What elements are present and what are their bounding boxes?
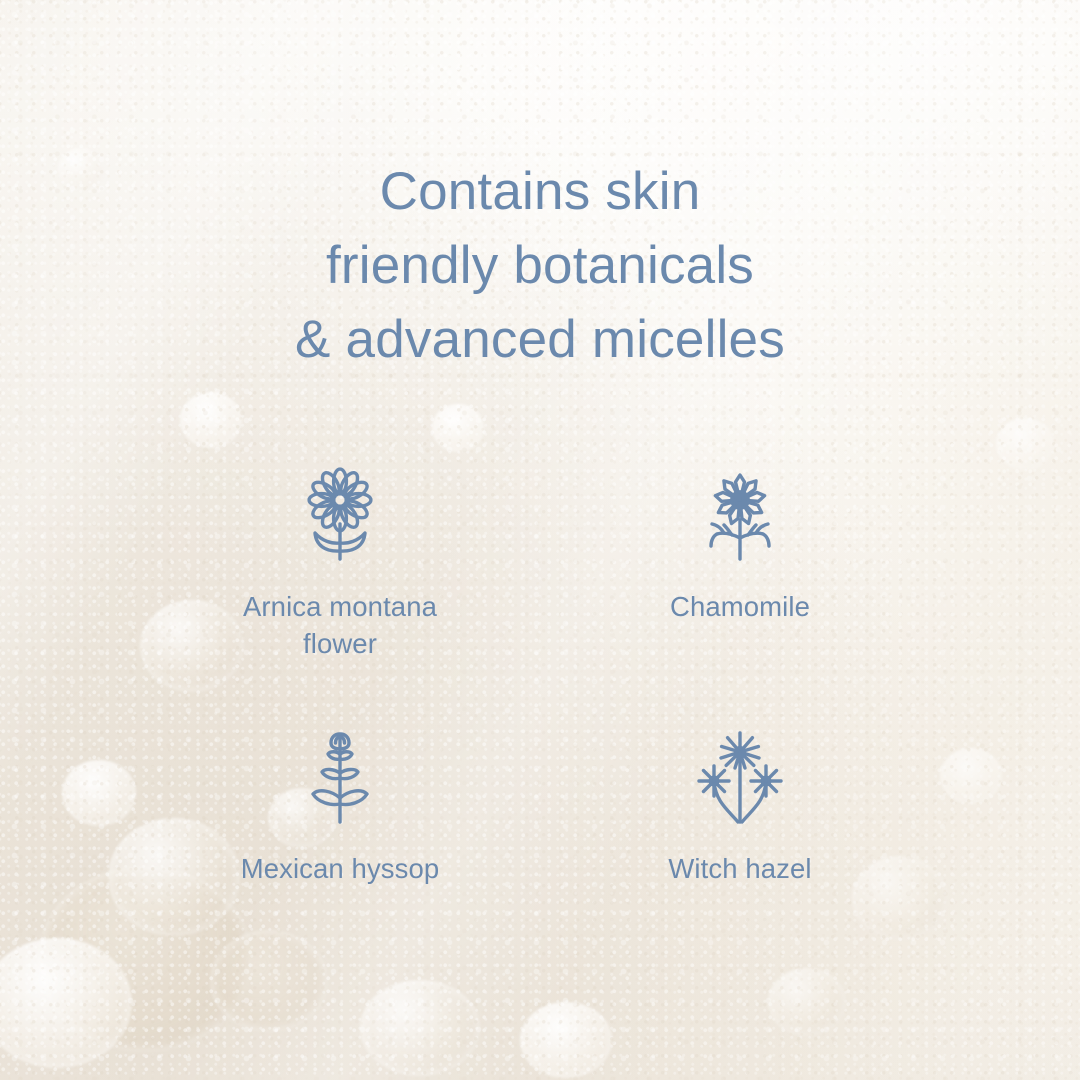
ingredient-item-mexican-hyssop: Mexican hyssop bbox=[140, 724, 540, 887]
witch-hazel-sprig-icon bbox=[694, 724, 786, 828]
ingredient-item-chamomile: Chamomile bbox=[540, 462, 940, 662]
infographic-poster: Contains skin friendly botanicals & adva… bbox=[0, 0, 1080, 1080]
poster-content: Contains skin friendly botanicals & adva… bbox=[0, 0, 1080, 1080]
ingredient-grid: Arnica montana flower bbox=[140, 462, 940, 887]
ingredient-item-witch-hazel: Witch hazel bbox=[540, 724, 940, 887]
ingredient-item-arnica-montana-flower: Arnica montana flower bbox=[140, 462, 540, 662]
page-title: Contains skin friendly botanicals & adva… bbox=[0, 155, 1080, 377]
daisy-flower-icon bbox=[294, 462, 386, 566]
chamomile-flower-icon bbox=[694, 462, 786, 566]
ingredient-row: Arnica montana flower bbox=[140, 462, 940, 662]
ingredient-label: Mexican hyssop bbox=[241, 850, 440, 887]
ingredient-label: Chamomile bbox=[670, 588, 810, 625]
ingredient-label: Witch hazel bbox=[668, 850, 811, 887]
ingredient-row: Mexican hyssop bbox=[140, 724, 940, 887]
hyssop-spike-icon bbox=[294, 724, 386, 828]
ingredient-label: Arnica montana flower bbox=[243, 588, 437, 662]
